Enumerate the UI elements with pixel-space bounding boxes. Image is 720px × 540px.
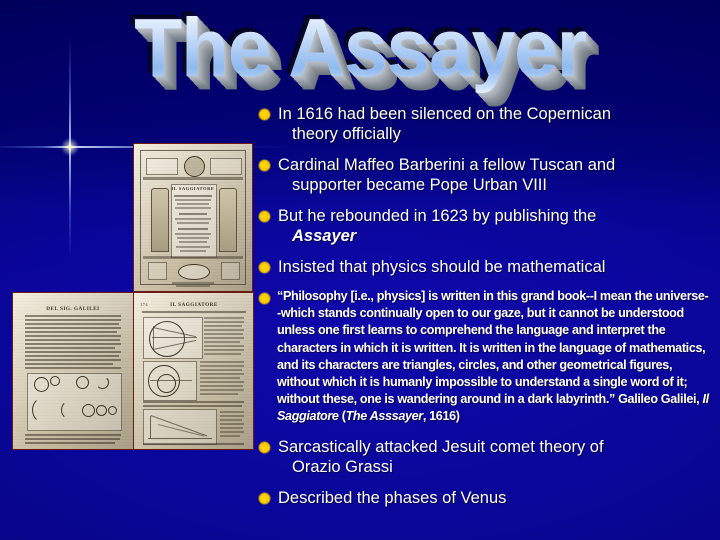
quotation-paren-open: ( bbox=[339, 409, 346, 423]
list-item-line1: Described the phases of Venus bbox=[278, 489, 506, 507]
quotation-block[interactable]: “Philosophy [i.e., physics] is written i… bbox=[258, 288, 710, 426]
quotation-paren-close: , 1616) bbox=[423, 409, 460, 423]
engraving-base-rail bbox=[143, 256, 243, 259]
engraving-figure-left bbox=[151, 188, 169, 252]
optical-diagram-1 bbox=[143, 317, 203, 359]
engraving-base-left-panel bbox=[148, 262, 167, 280]
quotation-text: “Philosophy [i.e., physics] is written i… bbox=[277, 288, 710, 426]
quotation-translated-title: The Asssayer bbox=[346, 409, 423, 423]
image-title-page-il-saggiatore: IL SAGGIATORE bbox=[133, 143, 253, 292]
list-item-line1: In 1616 had been silenced on the Coperni… bbox=[278, 105, 611, 123]
star-core bbox=[61, 138, 79, 156]
list-item-line1: Insisted that physics should be mathemat… bbox=[278, 258, 605, 276]
engraving-top-left-panel bbox=[146, 158, 178, 175]
list-item-line2: Orazio Grassi bbox=[278, 457, 604, 477]
sunburst-bullet-icon bbox=[258, 159, 271, 172]
optical-diagram-2 bbox=[143, 361, 197, 401]
list-item-line1: Sarcastically attacked Jesuit comet theo… bbox=[278, 438, 604, 456]
engraving-figure-right bbox=[219, 188, 237, 252]
list-item-text: In 1616 had been silenced on the Coperni… bbox=[278, 104, 611, 144]
venus-phase-diagram bbox=[27, 373, 122, 431]
title-face: The Assayer bbox=[134, 1, 586, 94]
engraving-oval-medallion bbox=[178, 264, 210, 280]
sunburst-bullet-icon bbox=[258, 210, 271, 223]
engraving-title-text: IL SAGGIATORE bbox=[171, 186, 215, 191]
bullet-list: In 1616 had been silenced on the Coperni… bbox=[258, 104, 710, 519]
sunburst-bullet-icon bbox=[258, 261, 271, 274]
quotation-body: “Philosophy [i.e., physics] is written i… bbox=[277, 289, 708, 406]
list-item[interactable]: Insisted that physics should be mathemat… bbox=[258, 257, 710, 277]
list-item[interactable]: Described the phases of Venus bbox=[258, 488, 710, 508]
slide: The Assayer The Assayer IL SAGGIATORE bbox=[0, 0, 720, 540]
venus-page-header: DEL SIG. GALILEI bbox=[13, 306, 133, 312]
sunburst-bullet-icon bbox=[258, 292, 271, 305]
list-item-text: Sarcastically attacked Jesuit comet theo… bbox=[278, 437, 604, 477]
image-phases-of-venus: DEL SIG. GALILEI bbox=[12, 292, 134, 450]
list-item-text: Insisted that physics should be mathemat… bbox=[278, 257, 605, 277]
saggiatore-page-number: 174 bbox=[140, 302, 154, 307]
list-item-line2-emphasis: Assayer bbox=[278, 226, 596, 246]
page-title: The Assayer The Assayer bbox=[0, 2, 720, 98]
sunburst-bullet-icon bbox=[258, 108, 271, 121]
engraving-base-right-panel bbox=[221, 262, 240, 280]
engraving-top-right-panel bbox=[210, 158, 242, 175]
list-item[interactable]: Cardinal Maffeo Barberini a fellow Tusca… bbox=[258, 155, 710, 195]
list-item[interactable]: Sarcastically attacked Jesuit comet theo… bbox=[258, 437, 710, 477]
list-item-line1: But he rebounded in 1623 by publishing t… bbox=[278, 207, 596, 225]
engraving-entablature bbox=[143, 177, 243, 180]
list-item[interactable]: In 1616 had been silenced on the Coperni… bbox=[258, 104, 710, 144]
image-il-saggiatore-diagrams: IL SAGGIATORE 174 bbox=[133, 292, 254, 450]
list-item-line2: theory officially bbox=[278, 124, 611, 144]
sunburst-bullet-icon bbox=[258, 492, 271, 505]
optical-diagram-3 bbox=[143, 409, 217, 445]
list-item-text: But he rebounded in 1623 by publishing t… bbox=[278, 206, 596, 246]
list-item-text: Cardinal Maffeo Barberini a fellow Tusca… bbox=[278, 155, 615, 195]
list-item-line1: Cardinal Maffeo Barberini a fellow Tusca… bbox=[278, 156, 615, 174]
list-item-line2: supporter became Pope Urban VIII bbox=[278, 175, 615, 195]
engraving-crest bbox=[184, 156, 205, 177]
saggiatore-page-header: IL SAGGIATORE bbox=[152, 302, 236, 308]
sunburst-bullet-icon bbox=[258, 441, 271, 454]
list-item-text: Described the phases of Venus bbox=[278, 488, 506, 508]
list-item[interactable]: But he rebounded in 1623 by publishing t… bbox=[258, 206, 710, 246]
